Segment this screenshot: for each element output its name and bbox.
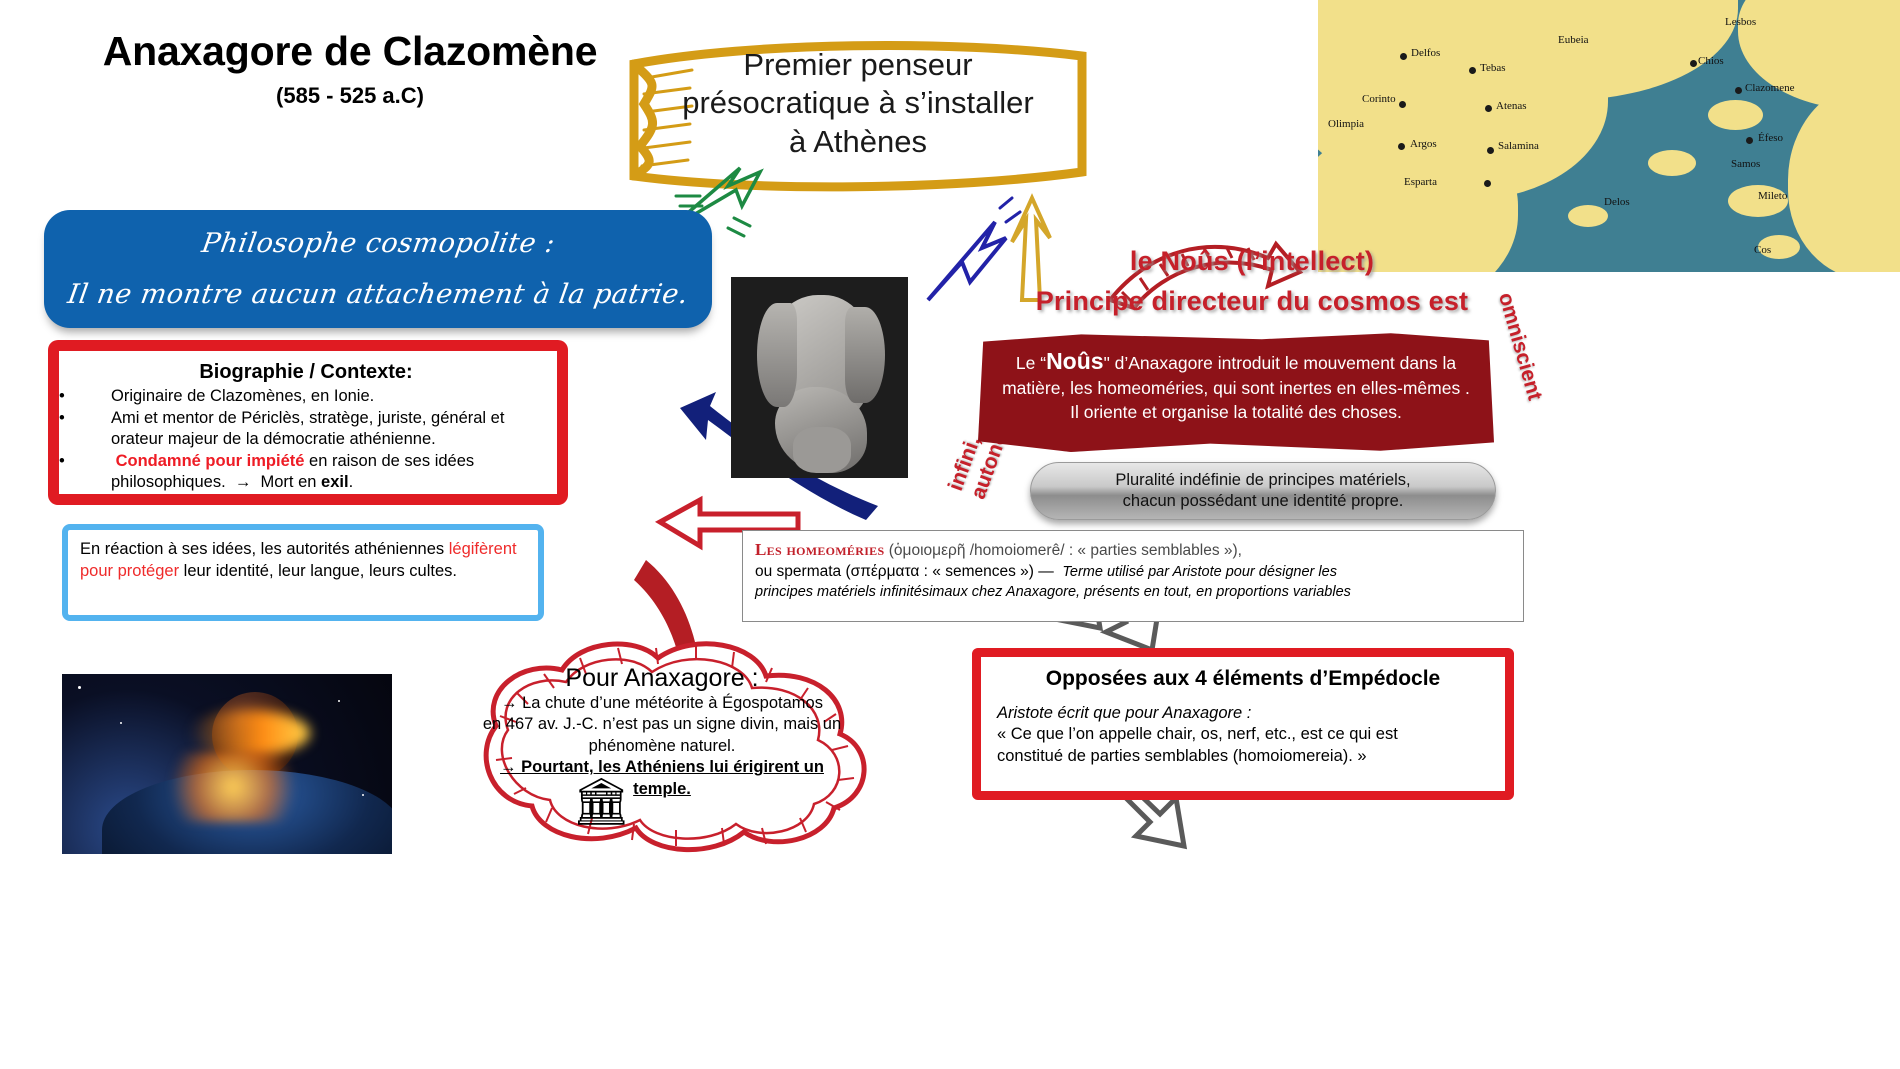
map-label: Atenas	[1496, 100, 1527, 112]
cloud-title: Pour Anaxagore :	[452, 664, 872, 693]
ribbon-line-2: présocratique à s’installer	[668, 84, 1048, 122]
empedocle-quote-2: constitué de parties semblables (homoiom…	[997, 747, 1367, 765]
cloud-line-2: en 467 av. J.-C. n’est pas un signe divi…	[452, 714, 872, 735]
athenian-reaction-box: En réaction à ses idées, les autorités a…	[62, 524, 544, 621]
temple-icon: 🏛	[572, 778, 630, 824]
biography-box: Biographie / Contexte: Originaire de Cla…	[48, 340, 568, 505]
list-item: Ami et mentor de Périclès, stratège, jur…	[69, 408, 543, 450]
map-label: Lesbos	[1725, 16, 1756, 28]
nous-heading-line-1: le Noûs (l’intellect)	[992, 246, 1512, 277]
title-name: Anaxagore de Clazomène	[70, 28, 630, 75]
map-label: Clazomene	[1745, 82, 1794, 94]
homeomeries-line-2: ou spermata (σπέρματα : « semences ») — …	[755, 562, 1511, 583]
biography-highlight: Condamné pour impiété	[116, 452, 305, 470]
homeomeries-line-1: Les homeoméries (ὁμοιομερῆ /homoiomerê/ …	[755, 539, 1511, 562]
map-label: Éfeso	[1758, 132, 1783, 144]
map-label: Mileto	[1758, 190, 1787, 202]
homeomeries-term: Les homeoméries	[755, 540, 884, 559]
empedocle-box: Opposées aux 4 éléments d’Empédocle Aris…	[972, 648, 1514, 800]
homeomeries-definition-box: Les homeoméries (ὁμοιομερῆ /homoiomerê/ …	[742, 530, 1524, 622]
list-item: Condamné pour impiété en raison de ses i…	[69, 451, 543, 493]
page-title: Anaxagore de Clazomène (585 - 525 a.C)	[70, 28, 630, 109]
map-label: Tebas	[1480, 62, 1506, 74]
omniscient-curved-text: omniscient	[1492, 282, 1612, 492]
gray-pill-text: Pluralité indéfinie de principes matérie…	[1115, 470, 1410, 511]
biography-list: Originaire de Clazomènes, en Ionie. Ami …	[69, 386, 543, 494]
cloud-underlined-2: temple.	[452, 779, 872, 800]
empedocle-heading: Opposées aux 4 éléments d’Empédocle	[997, 667, 1489, 691]
ribbon-line-3: à Athènes	[668, 123, 1048, 161]
map-label: Cos	[1754, 244, 1771, 256]
infographic-canvas: Lesbos Delfos Tebas Eubeia Chios Clazome…	[0, 0, 1900, 1069]
cosmopolite-blue-box: Philosophe cosmopolite : Il ne montre au…	[44, 210, 712, 328]
empedocle-italic-line: Aristote écrit que pour Anaxagore :	[997, 704, 1251, 722]
banner-text: Le “Noûs" d’Anaxagore introduit le mouve…	[996, 346, 1476, 424]
map-label: Delos	[1604, 196, 1630, 208]
cloud-underlined-1: → Pourtant, les Athéniens lui érigirent …	[452, 757, 872, 778]
map-of-ancient-greece-image: Lesbos Delfos Tebas Eubeia Chios Clazome…	[1318, 0, 1900, 272]
cloud-text: Pour Anaxagore : → La chute d’une météor…	[452, 664, 872, 800]
map-label: Chios	[1698, 55, 1724, 67]
homeomeries-greek: (ὁμοιομερῆ /homoiomerê/ : « parties semb…	[889, 542, 1242, 559]
ribbon-line-1: Premier penseur	[668, 46, 1048, 84]
ribbon-text: Premier penseur présocratique à s’instal…	[668, 46, 1048, 161]
list-item: Originaire de Clazomènes, en Ionie.	[69, 386, 543, 407]
meteor-impact-image	[62, 674, 392, 854]
cloud-line-1: → La chute d’une météorite à Égospotamos	[452, 693, 872, 714]
map-label: Argos	[1410, 138, 1437, 150]
map-label: Salamina	[1498, 140, 1539, 152]
cyan-box-text: En réaction à ses idées, les autorités a…	[80, 539, 526, 583]
title-dates: (585 - 525 a.C)	[70, 83, 630, 109]
empedocle-body: Aristote écrit que pour Anaxagore : « Ce…	[997, 703, 1489, 767]
map-label: Esparta	[1404, 176, 1437, 188]
map-label: Samos	[1731, 158, 1760, 170]
map-label: Delfos	[1411, 47, 1440, 59]
gold-ribbon-banner: Premier penseur présocratique à s’instal…	[612, 22, 1090, 212]
map-label: Corinto	[1362, 93, 1396, 105]
map-label: Olimpia	[1328, 118, 1364, 130]
homeomeries-line-3: principes matériels infinitésimaux chez …	[755, 583, 1511, 603]
nous-word: Noûs	[1046, 348, 1104, 374]
bust-of-anaxagoras-image	[731, 277, 908, 478]
cloud-line-3: phénomène naturel.	[452, 736, 872, 757]
blue-box-line-1: Philosophe cosmopolite :	[198, 218, 559, 269]
map-label: Eubeia	[1558, 34, 1589, 46]
plurality-gray-pill: Pluralité indéfinie de principes matérie…	[1030, 462, 1496, 520]
empedocle-quote-1: « Ce que l’on appelle chair, os, nerf, e…	[997, 725, 1398, 743]
nous-definition-banner: Le “Noûs" d’Anaxagore introduit le mouve…	[978, 332, 1494, 452]
biography-heading: Biographie / Contexte:	[69, 361, 543, 384]
pour-anaxagore-cloud: Pour Anaxagore : → La chute d’une météor…	[404, 630, 924, 860]
blue-box-line-2: Il ne montre aucun attachement à la patr…	[64, 269, 692, 320]
